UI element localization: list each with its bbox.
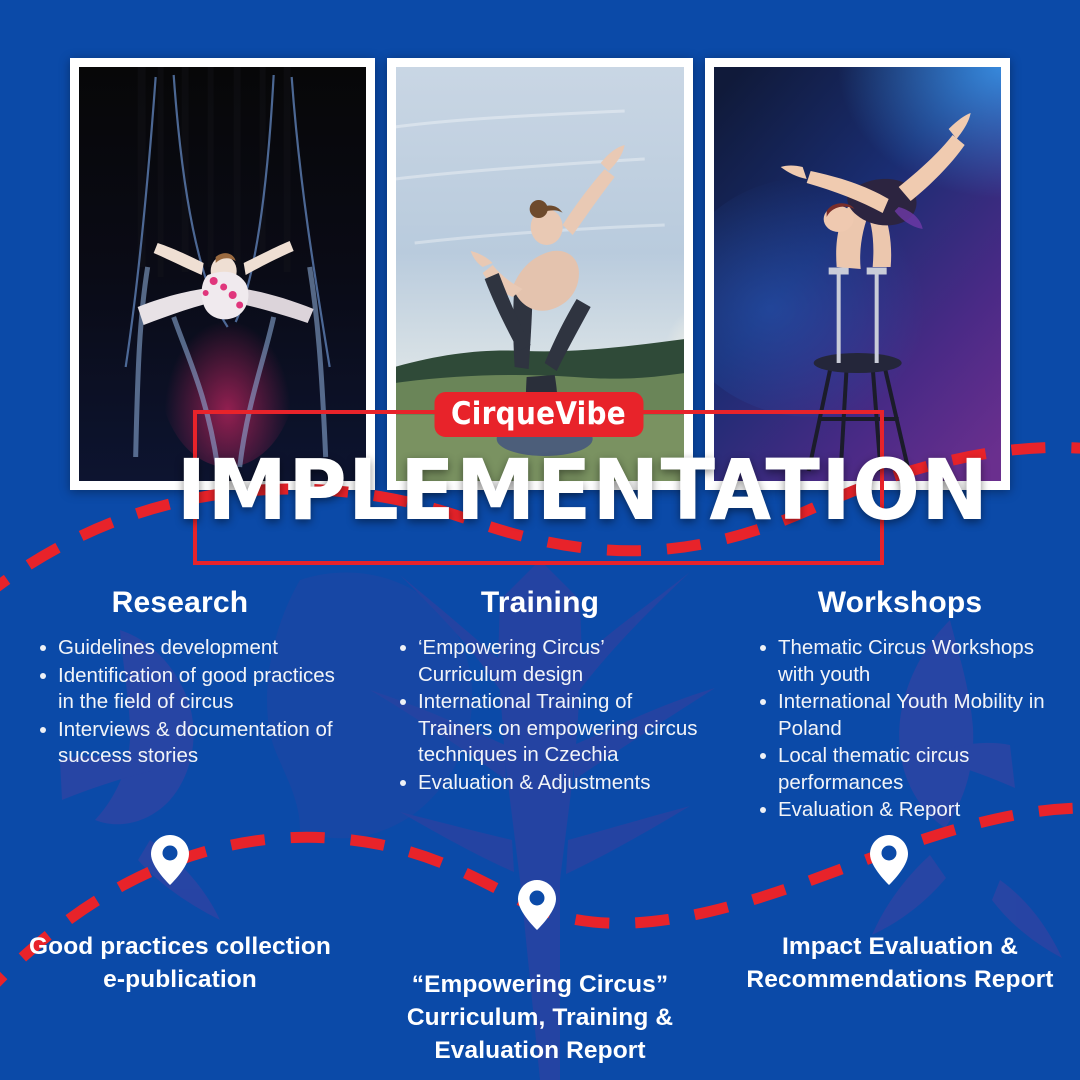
column-training: Training ‘Empowering Circus’ Curriculum …: [360, 585, 720, 825]
list-item: International Training of Trainers on em…: [400, 689, 702, 769]
column-research: Research Guidelines development Identifi…: [0, 585, 360, 825]
outcome-workshops: Impact Evaluation & Recommendations Repo…: [720, 930, 1080, 1067]
outcome-text: Good practices collection e-publication: [22, 930, 338, 996]
outcome-text: Impact Evaluation & Recommendations Repo…: [742, 930, 1058, 996]
column-list-workshops: Thematic Circus Workshops with youth Int…: [738, 635, 1062, 824]
list-item: Thematic Circus Workshops with youth: [760, 635, 1062, 688]
map-pin-icon: [150, 833, 190, 887]
list-item: Local thematic circus performances: [760, 743, 1062, 796]
map-pin-icon: [869, 833, 909, 887]
phase-columns: Research Guidelines development Identifi…: [0, 585, 1080, 825]
outcome-text: “Empowering Circus” Curriculum, Training…: [382, 968, 698, 1067]
list-item: Guidelines development: [40, 635, 342, 662]
list-item: ‘Empowering Circus’ Curriculum design: [400, 635, 702, 688]
map-pin-icon: [517, 878, 557, 932]
outcome-training: “Empowering Circus” Curriculum, Training…: [360, 930, 720, 1067]
column-list-training: ‘Empowering Circus’ Curriculum design In…: [378, 635, 702, 796]
list-item: Identification of good practices in the …: [40, 663, 342, 716]
title-frame: CirqueVibe IMPLEMENTATION: [193, 410, 884, 565]
column-title-training: Training: [378, 585, 702, 621]
list-item: International Youth Mobility in Poland: [760, 689, 1062, 742]
brand-badge[interactable]: CirqueVibe: [434, 392, 643, 437]
list-item: Evaluation & Adjustments: [400, 770, 702, 797]
outcome-research: Good practices collection e-publication: [0, 930, 360, 1067]
column-list-research: Guidelines development Identification of…: [18, 635, 342, 770]
list-item: Interviews & documentation of success st…: [40, 717, 342, 770]
column-title-research: Research: [18, 585, 342, 621]
column-title-workshops: Workshops: [738, 585, 1062, 621]
outcome-captions: Good practices collection e-publication …: [0, 930, 1080, 1067]
column-workshops: Workshops Thematic Circus Workshops with…: [720, 585, 1080, 825]
page-title: IMPLEMENTATION: [177, 448, 901, 532]
list-item: Evaluation & Report: [760, 797, 1062, 824]
